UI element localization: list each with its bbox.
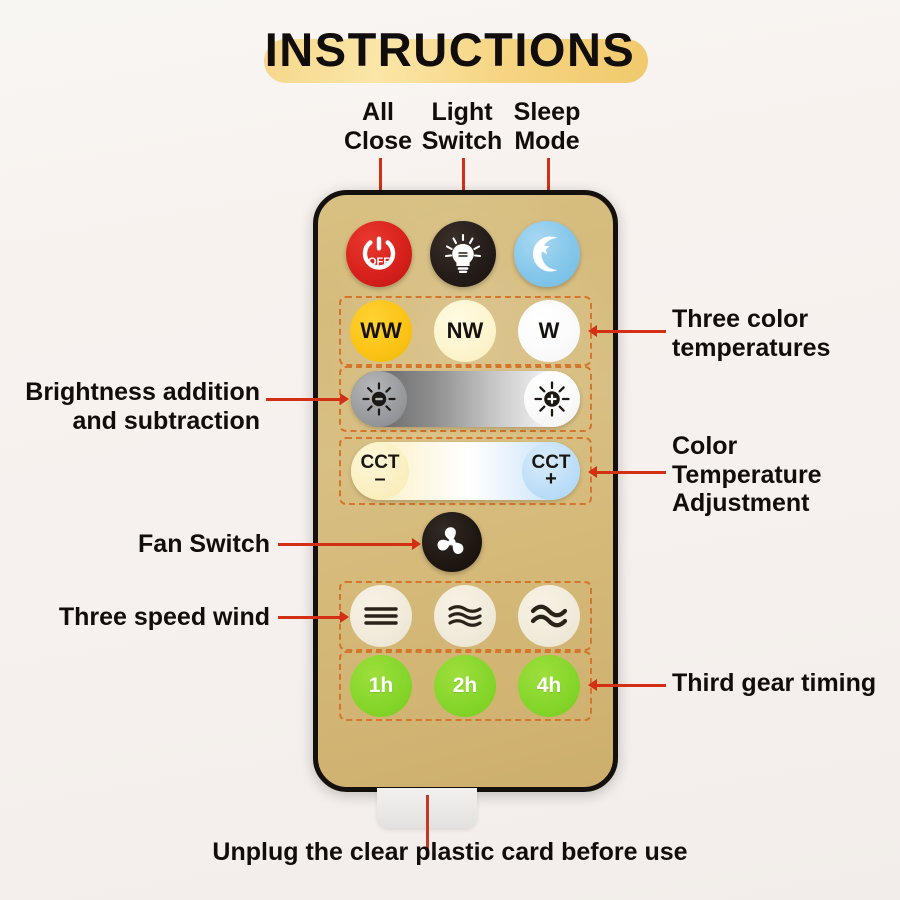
speed-medium-button[interactable] — [434, 585, 496, 647]
page-title: INSTRUCTIONS — [0, 22, 900, 77]
callout-speed-wind: Three speed wind — [42, 603, 270, 632]
power-button[interactable]: OFF — [346, 221, 412, 287]
neutral-white-label: NW — [447, 318, 484, 344]
sleep-mode-button[interactable] — [514, 221, 580, 287]
leader-line-cct — [596, 471, 666, 474]
arrow-fan-switch-icon — [412, 538, 421, 550]
power-off-icon: OFF — [357, 232, 401, 276]
large-waves-icon — [529, 601, 569, 631]
power-off-label: OFF — [368, 256, 390, 268]
timer-2h-label: 2h — [453, 674, 478, 698]
cct-down-symbol: – — [374, 470, 385, 488]
leader-line-color-temperatures — [596, 330, 666, 333]
cct-up-symbol: + — [545, 470, 557, 488]
speed-high-button[interactable] — [518, 585, 580, 647]
fan-blades-icon — [431, 521, 473, 563]
callout-sleep-mode: Sleep Mode — [490, 98, 604, 155]
brightness-down-button[interactable] — [351, 371, 407, 427]
callout-fan-switch: Fan Switch — [110, 530, 270, 559]
callout-cct: Color Temperature Adjustment — [672, 432, 896, 518]
moon-star-icon — [524, 231, 570, 277]
small-waves-icon — [445, 601, 485, 631]
arrow-brightness-icon — [340, 393, 349, 405]
timer-2h-button[interactable]: 2h — [434, 655, 496, 717]
speed-low-button[interactable] — [350, 585, 412, 647]
timer-4h-button[interactable]: 4h — [518, 655, 580, 717]
cct-down-button[interactable]: CCT – — [351, 442, 409, 500]
light-switch-button[interactable] — [430, 221, 496, 287]
brightness-up-button[interactable] — [524, 371, 580, 427]
white-button[interactable]: W — [518, 300, 580, 362]
arrow-cct-icon — [588, 466, 597, 478]
cct-up-button[interactable]: CCT + — [522, 442, 580, 500]
sun-plus-icon — [533, 380, 571, 418]
warm-white-label: WW — [360, 318, 402, 344]
cct-row: CCT – CCT + — [351, 442, 580, 500]
straight-lines-icon — [361, 601, 401, 631]
neutral-white-button[interactable]: NW — [434, 300, 496, 362]
arrow-speed-wind-icon — [340, 611, 349, 623]
leader-line-brightness — [266, 398, 340, 401]
callout-timing: Third gear timing — [672, 669, 898, 698]
sun-minus-icon — [361, 381, 397, 417]
bottom-instruction-note: Unplug the clear plastic card before use — [0, 838, 900, 867]
arrow-timing-icon — [588, 679, 597, 691]
timer-4h-label: 4h — [537, 674, 562, 698]
callout-color-temperatures: Three color temperatures — [672, 305, 892, 362]
fan-switch-button[interactable] — [422, 512, 482, 572]
timer-1h-button[interactable]: 1h — [350, 655, 412, 717]
leader-line-speed-wind — [278, 616, 340, 619]
warm-white-button[interactable]: WW — [350, 300, 412, 362]
arrow-color-temperatures-icon — [588, 325, 597, 337]
white-label: W — [539, 318, 560, 344]
leader-line-fan-switch — [278, 543, 412, 546]
brightness-row — [351, 371, 580, 427]
page-header: INSTRUCTIONS — [0, 8, 900, 88]
timer-1h-label: 1h — [369, 674, 394, 698]
leader-line-timing — [596, 684, 666, 687]
light-bulb-icon — [440, 231, 486, 277]
callout-brightness: Brightness addition and subtraction — [14, 378, 260, 435]
